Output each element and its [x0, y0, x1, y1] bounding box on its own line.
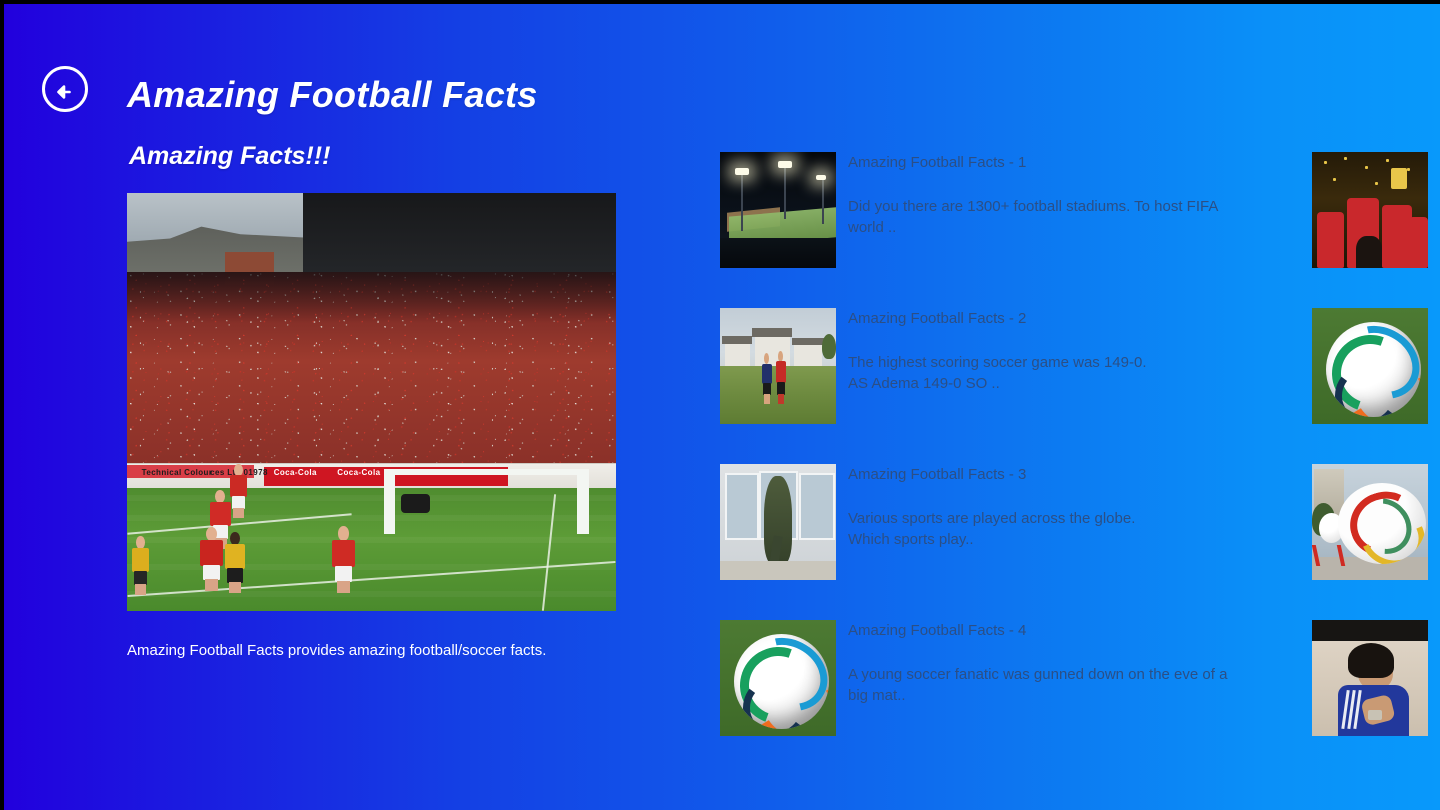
trophy-celebration-thumbnail	[1312, 152, 1428, 268]
list-item-description: A young soccer fanatic was gunned down o…	[848, 664, 1240, 707]
page-title: Amazing Football Facts	[127, 74, 538, 116]
back-button[interactable]	[42, 66, 88, 112]
list-item-description: Various sports are played across the glo…	[848, 508, 1240, 551]
hero-goal-crossbar	[384, 469, 589, 475]
player-blue-tracksuit-thumbnail	[1312, 620, 1428, 736]
list-item[interactable]: A T r	[1312, 464, 1440, 580]
list-item[interactable]: Amazing Football Facts - 3 Various sport…	[720, 464, 1280, 580]
list-item-text: Amazing Football Facts - 4 A young socce…	[848, 622, 1280, 707]
footballer-statue-thumbnail	[720, 464, 836, 580]
hero-image[interactable]: Technical Colour ces Ltd 01978 Coca-Cola…	[127, 193, 616, 611]
list-item[interactable]: A D o	[1312, 308, 1440, 424]
app-window: Amazing Football Facts Amazing Facts!!! …	[4, 4, 1440, 810]
brazuca-ball-grass-thumbnail-2	[1312, 308, 1428, 424]
list-item-description: The highest scoring soccer game was 149-…	[848, 352, 1240, 395]
list-item-description: Did you there are 1300+ football stadium…	[848, 196, 1240, 239]
list-item-title: Amazing Football Facts - 2	[848, 310, 1280, 328]
list-item[interactable]: A D 1	[1312, 620, 1440, 736]
giant-ball-sculpture-thumbnail	[1312, 464, 1428, 580]
hero-player-yellow-2	[132, 548, 150, 594]
hero-caption: Amazing Football Facts provides amazing …	[127, 641, 619, 661]
list-item-title: Amazing Football Facts - 3	[848, 466, 1280, 484]
facts-list: Amazing Football Facts - 1 Did you there…	[720, 152, 1280, 776]
list-item[interactable]: Amazing Football Facts - 1 Did you there…	[720, 152, 1280, 268]
hero-advert-text-technical: Technical Colour	[142, 468, 213, 477]
floodlit-stadium-night-thumbnail	[720, 152, 836, 268]
list-item-text: Amazing Football Facts - 2 The highest s…	[848, 310, 1280, 395]
list-item[interactable]: Amazing Football Facts - 4 A young socce…	[720, 620, 1280, 736]
hero-advert-text-coke-1: Coca-Cola	[274, 468, 317, 477]
back-arrow-icon	[51, 78, 79, 106]
hero-goalkeeper-diving	[401, 494, 430, 513]
left-pane: Amazing Facts!!! Technical Colour ces Lt…	[127, 142, 619, 661]
app-header: Amazing Football Facts	[4, 4, 1440, 132]
brazuca-ball-grass-thumbnail	[720, 620, 836, 736]
hero-goal-post-right	[577, 471, 589, 534]
hero-player-red-2	[200, 540, 222, 590]
hero-player-yellow-1	[225, 544, 246, 592]
hero-advert-text-coke-2: Coca-Cola	[337, 468, 380, 477]
list-item-text: Amazing Football Facts - 3 Various sport…	[848, 466, 1280, 551]
section-subtitle: Amazing Facts!!!	[129, 142, 619, 171]
list-item-title: Amazing Football Facts - 1	[848, 154, 1280, 172]
hero-player-red-3	[230, 475, 248, 517]
amateur-match-houses-thumbnail	[720, 308, 836, 424]
hero-goal-post-left	[384, 471, 396, 534]
hero-player-red-number-7	[332, 540, 354, 592]
list-item-text: Amazing Football Facts - 1 Did you there…	[848, 154, 1280, 239]
hero-crowd-shadow	[127, 272, 616, 322]
list-item[interactable]: A I f	[1312, 152, 1440, 268]
facts-list-next-page: A I f A D o	[1312, 152, 1440, 776]
list-item[interactable]: Amazing Football Facts - 2 The highest s…	[720, 308, 1280, 424]
list-item-title: Amazing Football Facts - 4	[848, 622, 1280, 640]
